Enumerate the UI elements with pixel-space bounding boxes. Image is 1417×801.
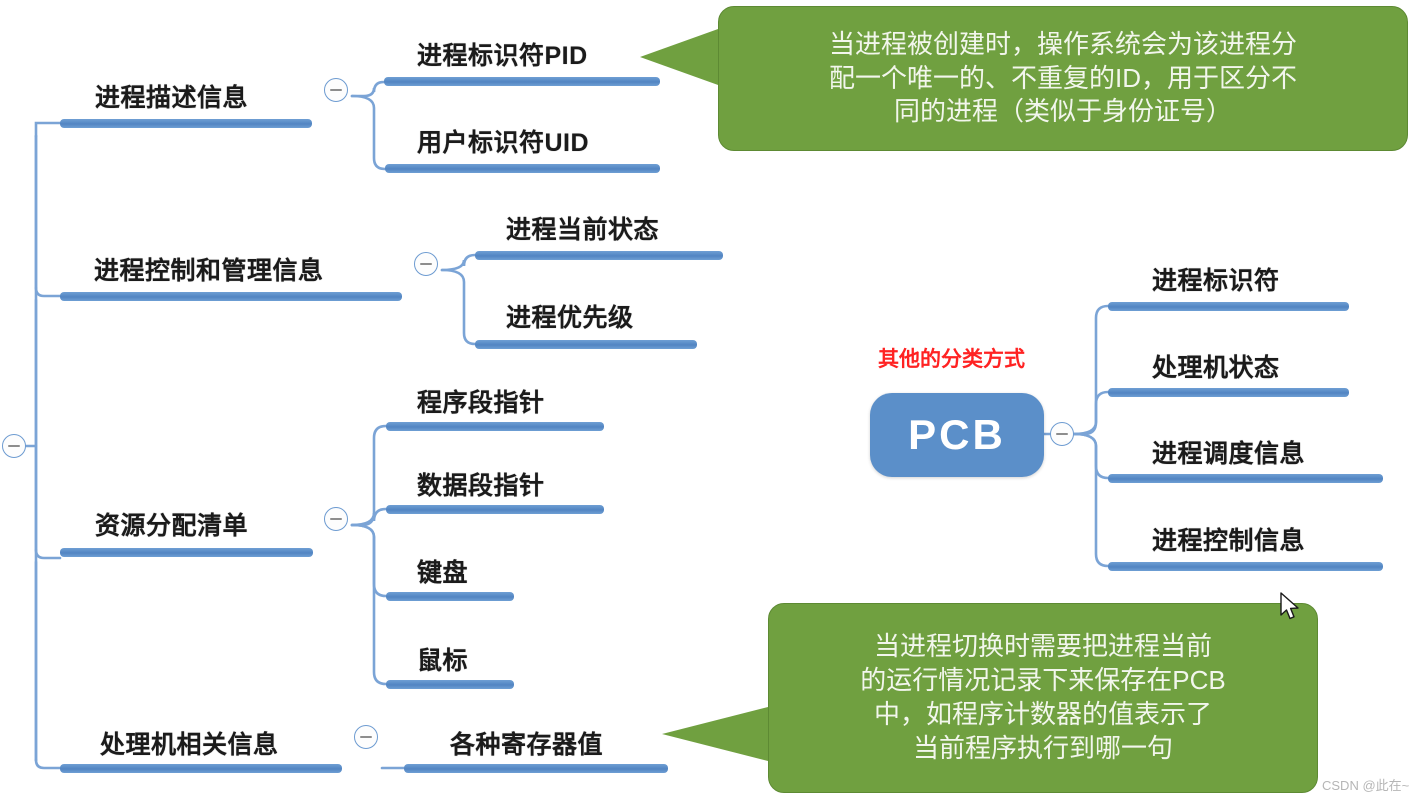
leaf-bar-uid xyxy=(385,164,660,173)
leaf-label-data-pointer[interactable]: 数据段指针 xyxy=(417,466,545,502)
callout-register-line-3: 中，如程序计数器的值表示了 xyxy=(860,698,1225,732)
branch-label-process-control[interactable]: 进程控制和管理信息 xyxy=(94,251,324,287)
pcb-leaf-bar-scheduling-info xyxy=(1108,474,1383,483)
pcb-leaf-bar-control-info xyxy=(1108,562,1383,571)
leaf-label-priority[interactable]: 进程优先级 xyxy=(506,298,634,334)
leaf-label-mouse[interactable]: 鼠标 xyxy=(417,641,468,677)
callout-register-line-2: 的运行情况记录下来保存在PCB xyxy=(860,664,1225,698)
leaf-bar-data-pointer xyxy=(386,505,604,514)
collapse-toggle-process-description[interactable] xyxy=(324,78,348,102)
leaf-label-current-state[interactable]: 进程当前状态 xyxy=(506,210,659,246)
branch-label-processor-info[interactable]: 处理机相关信息 xyxy=(100,725,279,761)
collapse-toggle-pcb[interactable] xyxy=(1050,422,1074,446)
pcb-leaf-bar-processor-state xyxy=(1108,388,1349,397)
pcb-leaf-label-scheduling-info[interactable]: 进程调度信息 xyxy=(1152,434,1305,470)
callout-pid-text: 当进程被创建时，操作系统会为该进程分 配一个唯一的、不重复的ID，用于区分不 同… xyxy=(829,28,1297,129)
branch-label-process-description[interactable]: 进程描述信息 xyxy=(95,78,248,114)
callout-register-line-1: 当进程切换时需要把进程当前 xyxy=(860,630,1225,664)
pcb-leaf-label-processor-state[interactable]: 处理机状态 xyxy=(1152,348,1280,384)
callout-register: 当进程切换时需要把进程当前 的运行情况记录下来保存在PCB 中，如程序计数器的值… xyxy=(768,603,1318,793)
collapse-toggle-root[interactable] xyxy=(2,434,26,458)
leaf-bar-keyboard xyxy=(386,592,514,601)
collapse-toggle-resource-list[interactable] xyxy=(324,507,348,531)
callout-pid-line-3: 同的进程（类似于身份证号） xyxy=(829,95,1297,129)
pcb-root-node[interactable]: PCB xyxy=(870,393,1044,477)
branch-bar-resource-list xyxy=(60,548,313,557)
other-classification-note: 其他的分类方式 xyxy=(878,343,1025,373)
pcb-leaf-label-control-info[interactable]: 进程控制信息 xyxy=(1152,521,1305,557)
branch-bar-process-control xyxy=(60,292,402,301)
leaf-bar-mouse xyxy=(386,680,514,689)
branch-bar-processor-info xyxy=(60,764,342,773)
leaf-label-registers[interactable]: 各种寄存器值 xyxy=(450,725,603,761)
callout-pid: 当进程被创建时，操作系统会为该进程分 配一个唯一的、不重复的ID，用于区分不 同… xyxy=(718,6,1408,151)
pcb-leaf-bar-identifier xyxy=(1108,302,1349,311)
callout-tail-register xyxy=(662,705,776,763)
callout-pid-line-2: 配一个唯一的、不重复的ID，用于区分不 xyxy=(829,62,1297,96)
callout-pid-line-1: 当进程被创建时，操作系统会为该进程分 xyxy=(829,28,1297,62)
csdn-watermark: CSDN @此在~ xyxy=(1322,775,1409,794)
leaf-bar-priority xyxy=(475,340,697,349)
branch-label-resource-list[interactable]: 资源分配清单 xyxy=(95,506,248,542)
leaf-label-keyboard[interactable]: 键盘 xyxy=(417,553,468,589)
leaf-bar-program-pointer xyxy=(386,422,604,431)
mindmap-canvas: 进程描述信息 进程标识符PID 用户标识符UID 进程控制和管理信息 进程当前状… xyxy=(0,0,1417,801)
leaf-bar-current-state xyxy=(475,251,723,260)
collapse-toggle-processor-info[interactable] xyxy=(354,725,378,749)
callout-register-text: 当进程切换时需要把进程当前 的运行情况记录下来保存在PCB 中，如程序计数器的值… xyxy=(860,630,1225,765)
leaf-label-program-pointer[interactable]: 程序段指针 xyxy=(417,383,545,419)
leaf-bar-pid xyxy=(384,77,660,86)
leaf-bar-registers xyxy=(404,764,668,773)
pcb-leaf-label-identifier[interactable]: 进程标识符 xyxy=(1152,261,1280,297)
branch-bar-process-description xyxy=(60,119,312,128)
callout-register-line-4: 当前程序执行到哪一句 xyxy=(860,732,1225,766)
collapse-toggle-process-control[interactable] xyxy=(414,252,438,276)
leaf-label-pid[interactable]: 进程标识符PID xyxy=(417,36,588,72)
leaf-label-uid[interactable]: 用户标识符UID xyxy=(417,123,589,159)
